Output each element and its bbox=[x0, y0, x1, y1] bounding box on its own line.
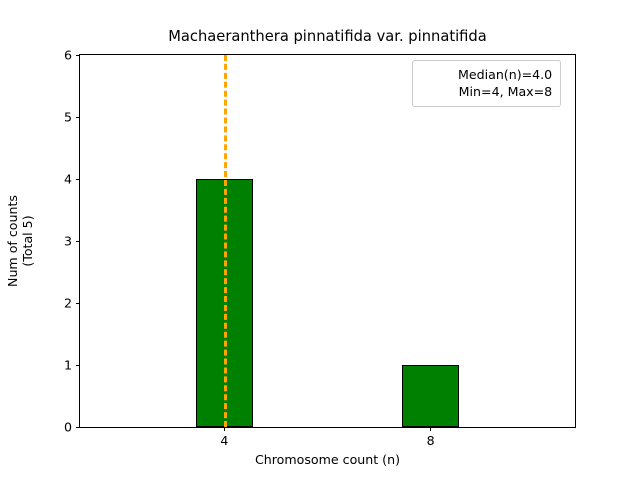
y-tick-label: 0 bbox=[64, 420, 72, 435]
y-tick-label: 6 bbox=[64, 48, 72, 63]
y-tick-mark bbox=[76, 427, 80, 428]
y-tick-label: 4 bbox=[64, 172, 72, 187]
y-tick-label: 3 bbox=[64, 234, 72, 249]
chart-figure: Machaeranthera pinnatifida var. pinnatif… bbox=[0, 0, 640, 480]
legend-median-line-icon bbox=[421, 66, 449, 81]
plot-content bbox=[80, 55, 575, 427]
bar-chromosome-8[interactable] bbox=[402, 365, 459, 427]
legend-text: Median(n)=4.0 Min=4, Max=8 bbox=[458, 66, 552, 100]
x-axis-label: Chromosome count (n) bbox=[79, 452, 576, 467]
chart-title: Machaeranthera pinnatifida var. pinnatif… bbox=[79, 28, 576, 45]
x-tick-mark bbox=[224, 427, 225, 431]
y-axis-label: Num of counts (Total 5) bbox=[0, 54, 40, 428]
y-axis-label-line2: (Total 5) bbox=[20, 215, 35, 266]
y-tick-label: 1 bbox=[64, 358, 72, 373]
x-tick-label: 8 bbox=[427, 433, 435, 448]
legend-label-minmax: Min=4, Max=8 bbox=[459, 83, 553, 100]
y-tick-label: 5 bbox=[64, 110, 72, 125]
x-tick-mark bbox=[430, 427, 431, 431]
y-tick-label: 2 bbox=[64, 296, 72, 311]
legend-label-median: Median(n)=4.0 bbox=[458, 66, 552, 83]
x-tick-label: 4 bbox=[220, 433, 228, 448]
median-line bbox=[224, 55, 227, 427]
plot-area: 0 1 2 3 4 5 6 bbox=[79, 54, 576, 428]
y-axis-label-line1: Num of counts bbox=[5, 195, 20, 287]
legend: Median(n)=4.0 Min=4, Max=8 bbox=[412, 60, 561, 107]
